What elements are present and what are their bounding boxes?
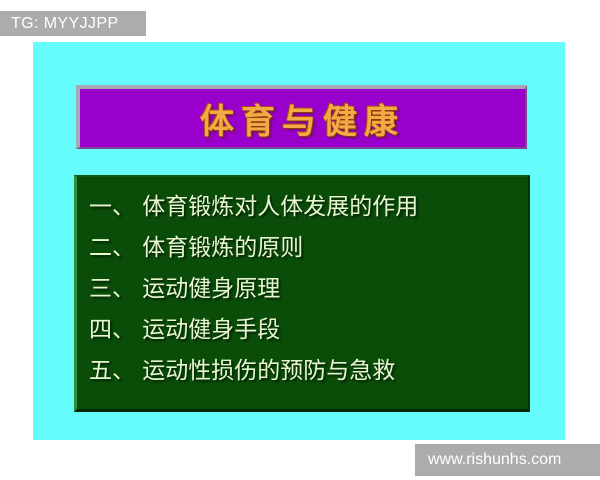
watermark-label: www.rishunhs.com bbox=[415, 451, 561, 469]
slide-screenshot: TG: MYYJJPP 体育与健康 一、 体育锻炼对人体发展的作用 二、 体育锻… bbox=[0, 0, 600, 480]
tg-overlay-label: TG: MYYJJPP bbox=[0, 15, 119, 33]
list-item: 五、 运动性损伤的预防与急救 bbox=[89, 351, 528, 392]
slide-title-text: 体育与健康 bbox=[200, 94, 405, 143]
list-item: 三、 运动健身原理 bbox=[89, 269, 528, 310]
list-item: 四、 运动健身手段 bbox=[89, 310, 528, 351]
list-item: 一、 体育锻炼对人体发展的作用 bbox=[89, 187, 528, 228]
slide-canvas: 体育与健康 一、 体育锻炼对人体发展的作用 二、 体育锻炼的原则 三、 运动健身… bbox=[33, 42, 565, 440]
list-item: 二、 体育锻炼的原则 bbox=[89, 228, 528, 269]
watermark-badge: www.rishunhs.com bbox=[415, 444, 600, 476]
slide-title-plaque: 体育与健康 bbox=[76, 85, 527, 149]
tg-overlay-badge: TG: MYYJJPP bbox=[0, 11, 146, 36]
slide-content-panel: 一、 体育锻炼对人体发展的作用 二、 体育锻炼的原则 三、 运动健身原理 四、 … bbox=[74, 175, 530, 412]
